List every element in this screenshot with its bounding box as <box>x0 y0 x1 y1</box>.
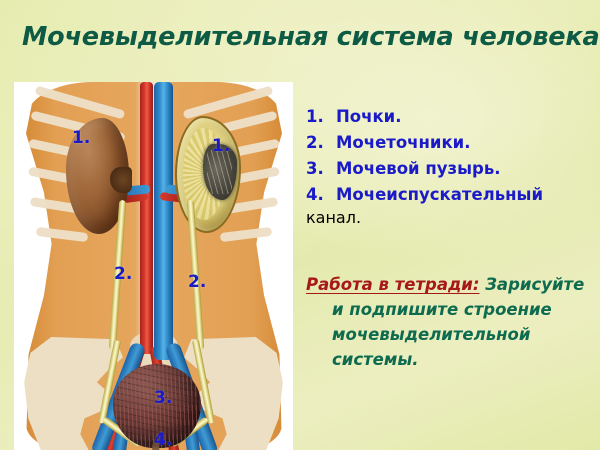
page-title: Мочевыделительная система человека. <box>22 22 582 52</box>
list-item-continuation: канал. <box>306 208 592 227</box>
figure-label-bladder: 3. <box>154 388 172 408</box>
task-lead-label: Работа в тетради: <box>306 275 479 294</box>
list-item-label: Почки. <box>336 104 592 129</box>
figure-label-kidney-left: 1. <box>72 128 90 148</box>
list-item-label: Мочевой пузырь. <box>336 156 592 181</box>
list-item: 2. Мочеточники. <box>306 130 592 155</box>
list-item-number: 4. <box>306 182 336 207</box>
figure-label-urethra: 4. <box>154 430 172 450</box>
task-body-line3: мочевыделительной <box>332 322 596 347</box>
illustration-inner: 1. 1. 2. 2. 3. 4. <box>14 82 293 450</box>
figure-label-kidney-right: 1. <box>212 136 230 156</box>
list-item: 3. Мочевой пузырь. <box>306 156 592 181</box>
list-item: 1. Почки. <box>306 104 592 129</box>
list-item-label: Мочеточники. <box>336 130 592 155</box>
task-body-line2: и подпишите строение <box>332 297 596 322</box>
list-item-number: 2. <box>306 130 336 155</box>
anatomy-illustration: 1. 1. 2. 2. 3. 4. <box>14 82 293 450</box>
figure-label-ureter-left: 2. <box>114 264 132 284</box>
list-item-number: 1. <box>306 104 336 129</box>
aorta-icon <box>140 82 153 354</box>
vena-cava-icon <box>154 82 173 360</box>
list-item-number: 3. <box>306 156 336 181</box>
slide-canvas: Мочевыделительная система человека. <box>0 0 600 450</box>
task-body-line4: системы. <box>332 347 596 372</box>
task-block: Работа в тетради: Зарисуйте и подпишите … <box>306 272 596 372</box>
figure-label-ureter-right: 2. <box>188 272 206 292</box>
list-item: 4. Мочеиспускательный <box>306 182 592 207</box>
task-body-line1: Зарисуйте <box>479 275 584 294</box>
organ-list: 1. Почки. 2. Мочеточники. 3. Мочевой пуз… <box>306 104 592 227</box>
list-item-label: Мочеиспускательный <box>336 182 592 207</box>
